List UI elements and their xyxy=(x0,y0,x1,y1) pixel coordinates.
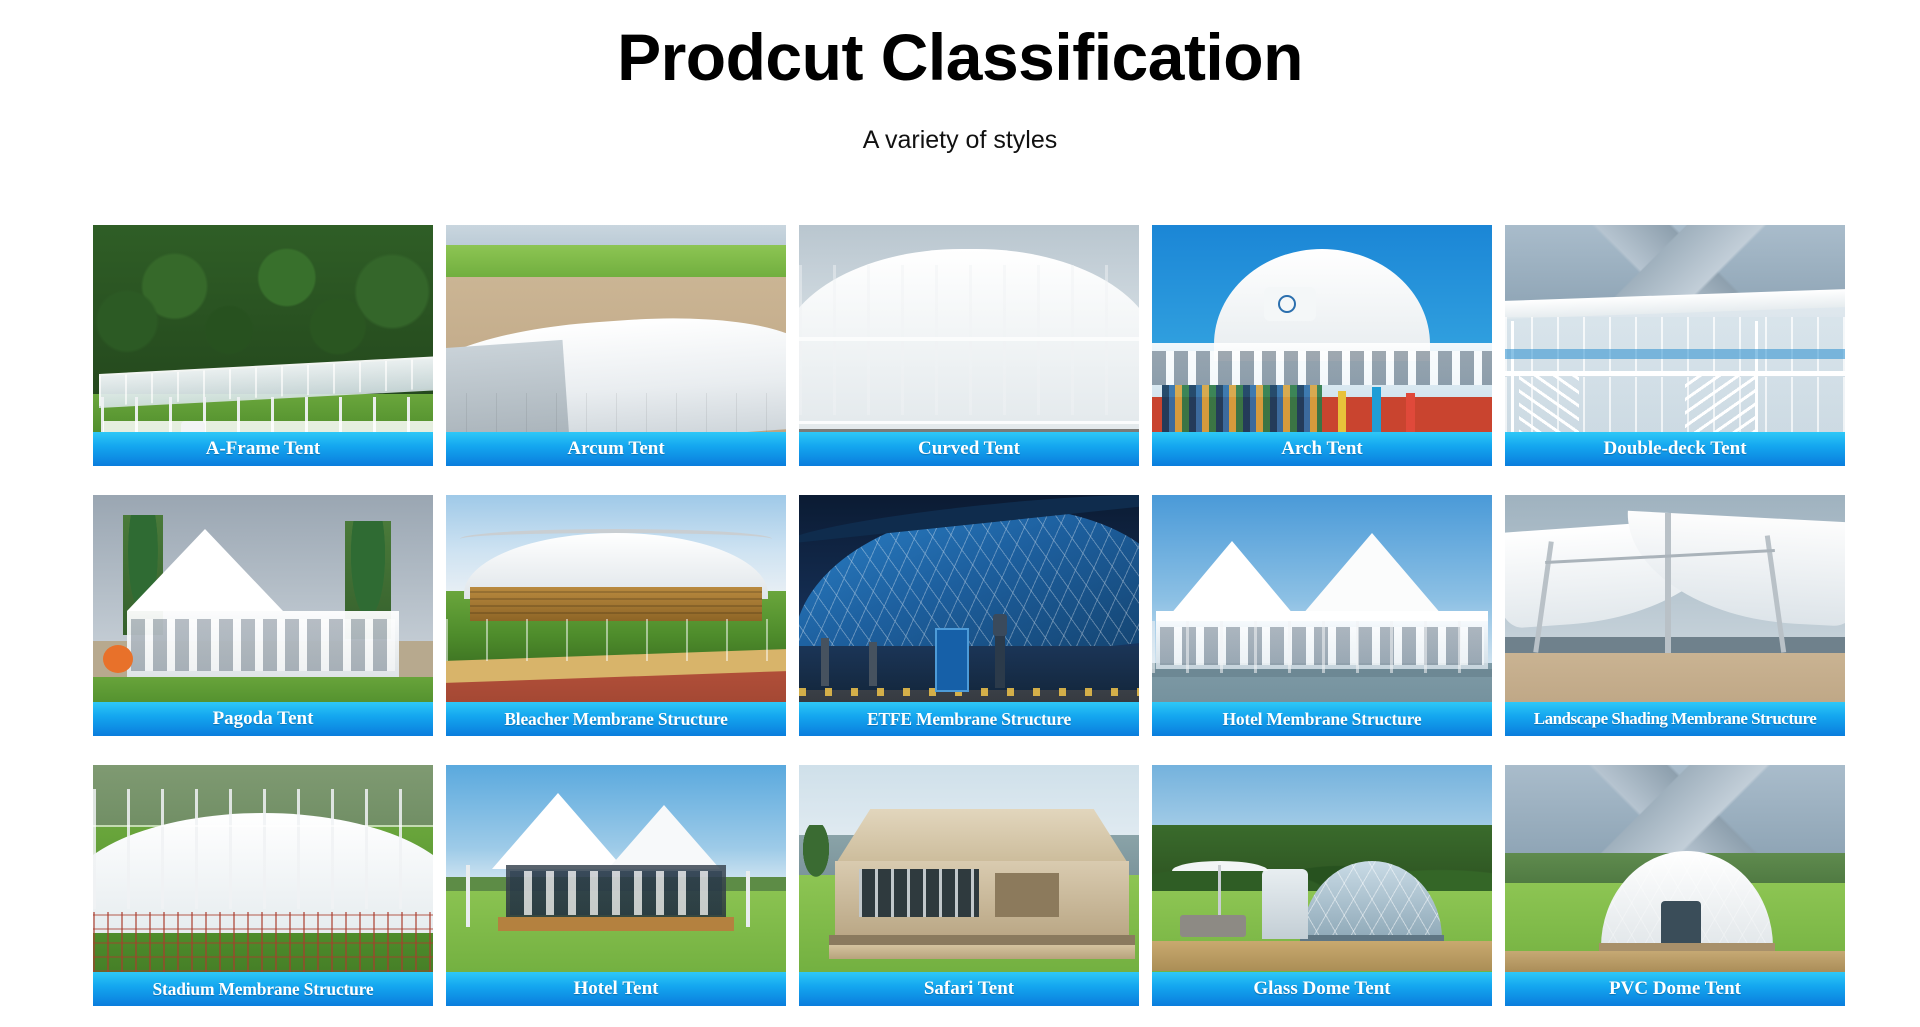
product-label: Arcum Tent xyxy=(567,438,664,460)
product-card-bleacher-membrane-structure[interactable]: Bleacher Membrane Structure xyxy=(446,495,786,736)
product-caption-arcum-tent: Arcum Tent xyxy=(446,432,786,466)
product-image-arcum-tent xyxy=(446,225,786,466)
product-caption-glass-dome-tent: Glass Dome Tent xyxy=(1152,972,1492,1006)
product-card-landscape-shading-membrane-structure[interactable]: Landscape Shading Membrane Structure xyxy=(1505,495,1845,736)
product-card-curved-tent[interactable]: Curved Tent xyxy=(799,225,1139,466)
product-card-arcum-tent[interactable]: Arcum Tent xyxy=(446,225,786,466)
product-card-pagoda-tent[interactable]: Pagoda Tent xyxy=(93,495,433,736)
product-label: Hotel Membrane Structure xyxy=(1223,709,1422,730)
product-card-double-deck-tent[interactable]: Double-deck Tent xyxy=(1505,225,1845,466)
product-card-hotel-membrane-structure[interactable]: Hotel Membrane Structure xyxy=(1152,495,1492,736)
product-card-glass-dome-tent[interactable]: Glass Dome Tent xyxy=(1152,765,1492,1006)
page-subtitle: A variety of styles xyxy=(0,122,1920,158)
product-label: Curved Tent xyxy=(918,438,1020,460)
product-caption-stadium-membrane-structure: Stadium Membrane Structure xyxy=(93,972,433,1006)
product-caption-arch-tent: Arch Tent xyxy=(1152,432,1492,466)
product-label: A-Frame Tent xyxy=(206,438,321,460)
product-label: Safari Tent xyxy=(924,978,1014,1000)
product-image-etfe-membrane-structure xyxy=(799,495,1139,736)
product-card-safari-tent[interactable]: Safari Tent xyxy=(799,765,1139,1006)
product-card-hotel-tent[interactable]: Hotel Tent xyxy=(446,765,786,1006)
product-label: Glass Dome Tent xyxy=(1253,978,1390,1000)
product-caption-hotel-tent: Hotel Tent xyxy=(446,972,786,1006)
product-caption-hotel-membrane-structure: Hotel Membrane Structure xyxy=(1152,702,1492,736)
product-label: Bleacher Membrane Structure xyxy=(504,709,727,730)
product-label: Pagoda Tent xyxy=(213,708,314,730)
product-caption-double-deck-tent: Double-deck Tent xyxy=(1505,432,1845,466)
product-image-glass-dome-tent xyxy=(1152,765,1492,1006)
product-image-pvc-dome-tent xyxy=(1505,765,1845,1006)
product-label: PVC Dome Tent xyxy=(1609,978,1741,1000)
product-card-a-frame-tent[interactable]: A-Frame Tent xyxy=(93,225,433,466)
product-caption-safari-tent: Safari Tent xyxy=(799,972,1139,1006)
product-card-pvc-dome-tent[interactable]: PVC Dome Tent xyxy=(1505,765,1845,1006)
product-card-etfe-membrane-structure[interactable]: ETFE Membrane Structure xyxy=(799,495,1139,736)
product-label: Arch Tent xyxy=(1281,438,1362,460)
product-image-hotel-tent xyxy=(446,765,786,1006)
product-caption-bleacher-membrane-structure: Bleacher Membrane Structure xyxy=(446,702,786,736)
product-classification-page: Prodcut Classification A variety of styl… xyxy=(0,0,1920,1027)
product-image-double-deck-tent xyxy=(1505,225,1845,466)
product-card-arch-tent[interactable]: Arch Tent xyxy=(1152,225,1492,466)
product-caption-pvc-dome-tent: PVC Dome Tent xyxy=(1505,972,1845,1006)
page-header: Prodcut Classification A variety of styl… xyxy=(0,0,1920,158)
product-label: Stadium Membrane Structure xyxy=(153,979,374,1000)
product-image-safari-tent xyxy=(799,765,1139,1006)
product-image-curved-tent xyxy=(799,225,1139,466)
product-caption-etfe-membrane-structure: ETFE Membrane Structure xyxy=(799,702,1139,736)
product-image-stadium-membrane-structure xyxy=(93,765,433,1006)
page-title: Prodcut Classification xyxy=(0,14,1920,100)
product-label: ETFE Membrane Structure xyxy=(867,709,1071,730)
product-image-a-frame-tent xyxy=(93,225,433,466)
product-label: Hotel Tent xyxy=(574,978,659,1000)
product-label: Landscape Shading Membrane Structure xyxy=(1534,709,1817,729)
product-grid: A-Frame Tent Arcum Tent xyxy=(93,225,1827,1006)
product-card-stadium-membrane-structure[interactable]: Stadium Membrane Structure xyxy=(93,765,433,1006)
product-image-arch-tent xyxy=(1152,225,1492,466)
product-image-bleacher-membrane-structure xyxy=(446,495,786,736)
product-image-hotel-membrane-structure xyxy=(1152,495,1492,736)
product-caption-landscape-shading-membrane-structure: Landscape Shading Membrane Structure xyxy=(1505,702,1845,736)
product-caption-a-frame-tent: A-Frame Tent xyxy=(93,432,433,466)
product-label: Double-deck Tent xyxy=(1603,438,1746,460)
product-image-landscape-shading-membrane-structure xyxy=(1505,495,1845,736)
product-caption-curved-tent: Curved Tent xyxy=(799,432,1139,466)
product-image-pagoda-tent xyxy=(93,495,433,736)
product-caption-pagoda-tent: Pagoda Tent xyxy=(93,702,433,736)
